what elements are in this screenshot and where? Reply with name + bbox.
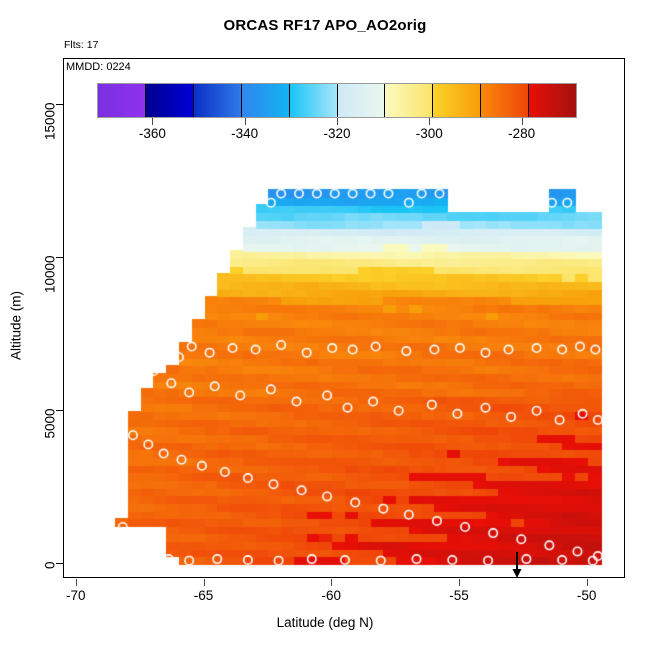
colorbar-tick-label: -280 [508,126,535,141]
x-axis-tick-label: -70 [66,588,86,603]
colorbar-ticks [97,118,577,125]
colorbar-tick-labels: -360-340-320-300-280 [0,126,650,144]
colorbar-segment-5 [338,84,386,117]
colorbar-segment-8 [481,84,529,117]
colorbar-tick [429,118,430,125]
colorbar-tick-label: -320 [323,126,350,141]
colorbar-segment-3 [242,84,290,117]
x-axis-tick [587,579,588,586]
colorbar [97,83,577,118]
y-axis-tick-label: 15000 [43,102,58,152]
down-arrow-icon [511,552,523,578]
flights-label: Flts: 17 [64,39,98,51]
colorbar-tick [245,118,246,125]
colorbar-segment-4 [290,84,338,117]
colorbar-segment-2 [194,84,242,117]
x-axis-tick [459,579,460,586]
colorbar-segment-6 [385,84,433,117]
plot-figure: ORCAS RF17 APO_AO2orig Flts: 17 MMDD: 02… [0,0,650,650]
colorbar-tick [337,118,338,125]
colorbar-segment-7 [433,84,481,117]
x-axis-tick-label: -60 [321,588,341,603]
colorbar-tick-label: -340 [231,126,258,141]
y-axis-tick-label: 5000 [43,408,58,458]
mmdd-label: MMDD: 0224 [66,61,131,73]
y-axis-title: Altitude (m) [9,266,24,386]
x-axis-tick-label: -50 [577,588,597,603]
colorbar-segment-9 [529,84,576,117]
x-axis-title: Latitude (deg N) [0,615,650,630]
colorbar-tick-label: -360 [139,126,166,141]
colorbar-tick [152,118,153,125]
colorbar-segments [98,84,576,117]
colorbar-tick-label: -300 [416,126,443,141]
page-title: ORCAS RF17 APO_AO2orig [0,17,650,34]
x-axis-tick [331,579,332,586]
x-axis-tick-label: -65 [194,588,214,603]
colorbar-segment-0 [98,84,146,117]
y-axis-tick-label: 0 [43,561,58,611]
x-axis-tick [76,579,77,586]
colorbar-tick [522,118,523,125]
colorbar-segment-1 [146,84,194,117]
x-axis-tick-label: -55 [449,588,469,603]
y-axis-tick-label: 10000 [43,255,58,305]
x-axis-tick [204,579,205,586]
